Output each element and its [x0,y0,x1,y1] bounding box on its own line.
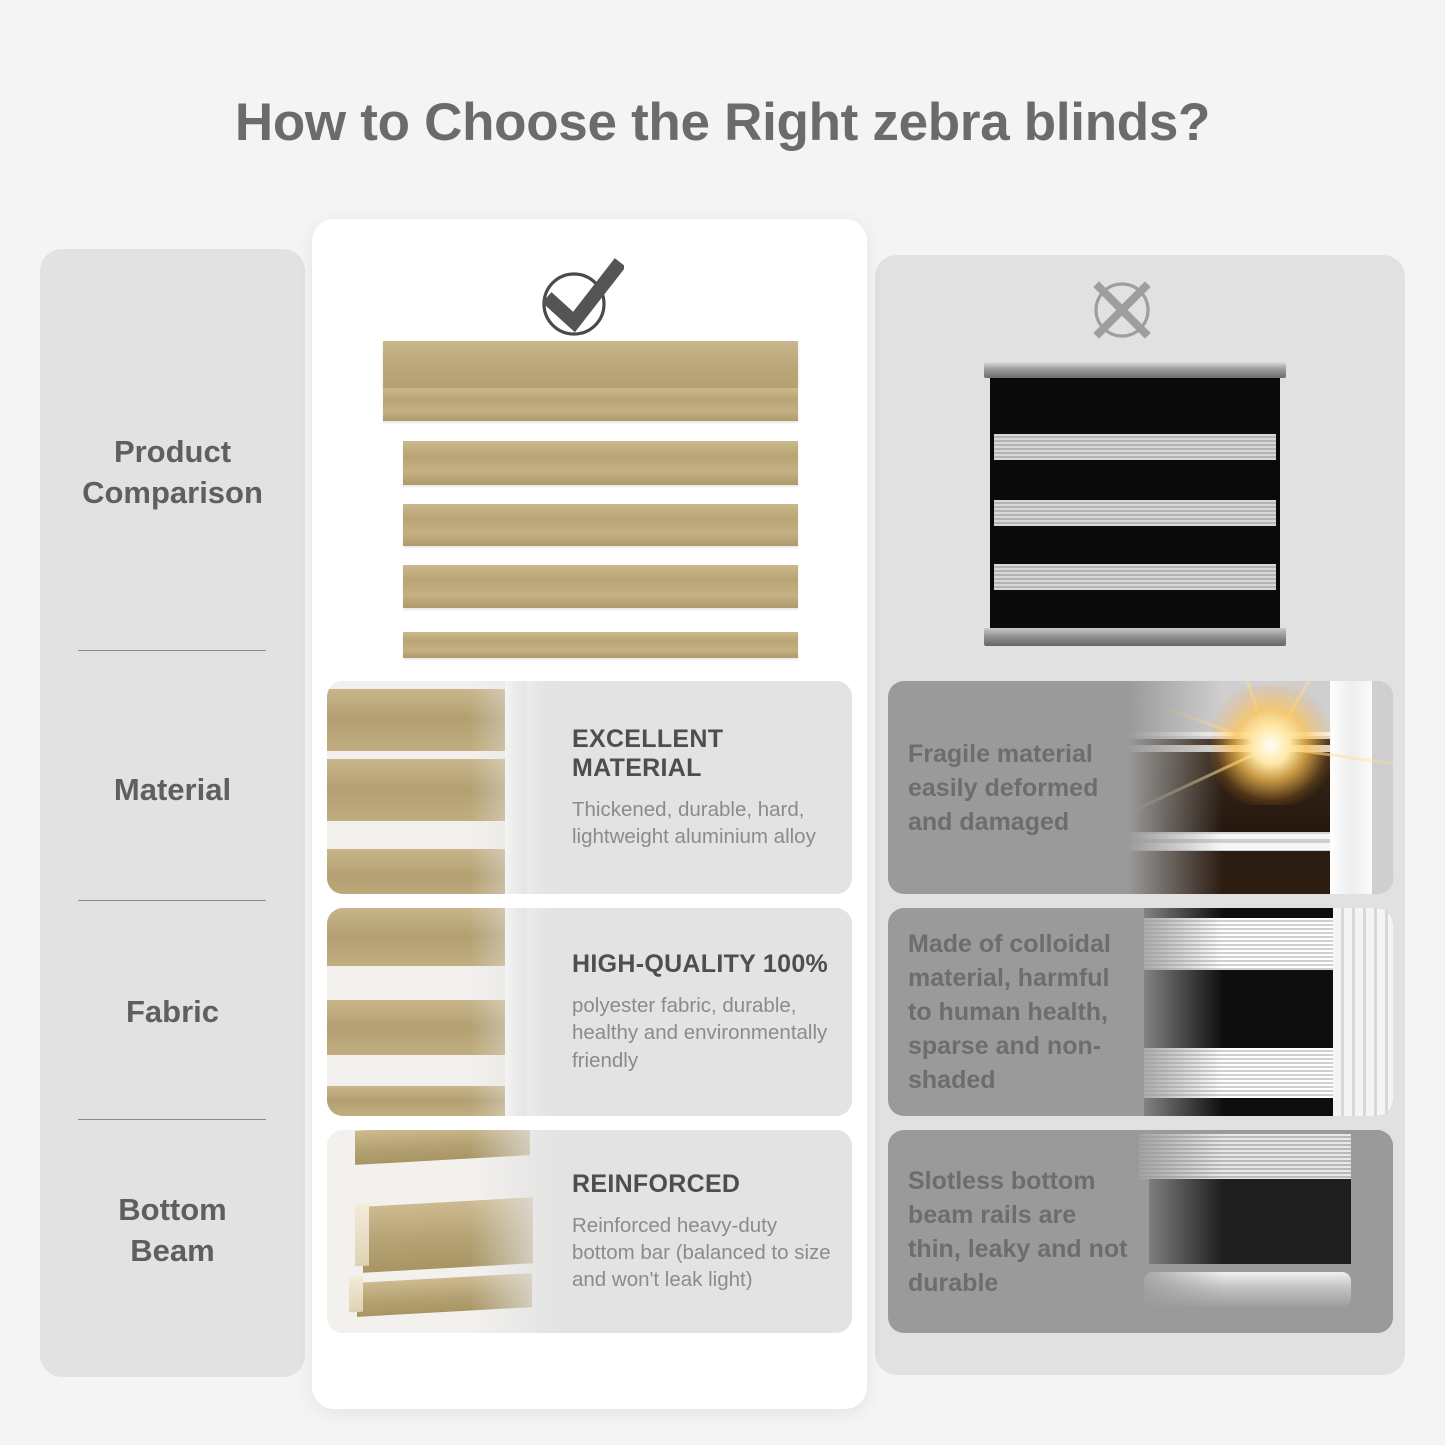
good-bottom-beam-heading: REINFORCED [572,1170,834,1199]
bad-hero-blind-image [990,372,1280,644]
bad-bottom-beam-body: Slotless bottom beam rails are thin, lea… [908,1164,1133,1300]
blind-slat [403,565,798,608]
page-title: How to Choose the Right zebra blinds? [0,92,1445,153]
bad-fabric-body: Made of colloidal material, harmful to h… [908,927,1133,1097]
sidebar-divider-2 [78,900,266,901]
bad-bottom-beam-image [1128,1130,1393,1333]
bad-card-fabric: Made of colloidal material, harmful to h… [888,908,1393,1116]
good-card-material: EXCELLENT MATERIAL Thickened, durable, h… [327,681,852,894]
blind-slat [403,504,798,546]
bad-material-image [1128,681,1393,894]
good-material-body: Thickened, durable, hard, lightweight al… [572,796,834,851]
good-bottom-beam-image [327,1130,559,1333]
sidebar-item-fabric: Fabric [40,992,305,1033]
good-hero-blind-image [383,341,798,666]
sidebar-divider-3 [78,1119,266,1120]
blind-bottom-bar [403,632,798,658]
check-circle-icon [538,258,624,345]
sidebar-item-bottom-beam: Bottom Beam [40,1190,305,1272]
bad-material-body: Fragile material easily deformed and dam… [908,737,1133,839]
blind-sheer-stripe [994,434,1276,460]
blind-slat [383,388,798,421]
bad-fabric-image [1128,908,1393,1116]
bad-material-text: Fragile material easily deformed and dam… [908,681,1133,894]
good-fabric-image [327,908,559,1116]
good-fabric-heading: HIGH-QUALITY 100% [572,950,834,979]
cross-circle-icon [1087,275,1157,350]
good-material-image [327,681,559,894]
good-material-heading: EXCELLENT MATERIAL [572,725,834,783]
sidebar-item-product-comparison: Product Comparison [40,432,305,514]
good-material-text: EXCELLENT MATERIAL Thickened, durable, h… [572,681,834,894]
blind-headrail [383,341,798,388]
good-bottom-beam-body: Reinforced heavy-duty bottom bar (balanc… [572,1212,834,1294]
blind-sheer-stripe [994,564,1276,590]
bad-card-bottom-beam: Slotless bottom beam rails are thin, lea… [888,1130,1393,1333]
good-fabric-body: polyester fabric, durable, healthy and e… [572,992,834,1074]
sidebar-divider-1 [78,650,266,651]
blind-slat [403,441,798,485]
good-bottom-beam-text: REINFORCED Reinforced heavy-duty bottom … [572,1130,834,1333]
bad-bottom-beam-text: Slotless bottom beam rails are thin, lea… [908,1130,1133,1333]
blind-sheer-stripe [994,500,1276,526]
good-card-fabric: HIGH-QUALITY 100% polyester fabric, dura… [327,908,852,1116]
sidebar-item-material: Material [40,770,305,811]
blind-headrail [984,362,1286,378]
bad-card-material: Fragile material easily deformed and dam… [888,681,1393,894]
good-fabric-text: HIGH-QUALITY 100% polyester fabric, dura… [572,908,834,1116]
bad-fabric-text: Made of colloidal material, harmful to h… [908,908,1133,1116]
good-card-bottom-beam: REINFORCED Reinforced heavy-duty bottom … [327,1130,852,1333]
blind-bottom-rail [984,628,1286,646]
